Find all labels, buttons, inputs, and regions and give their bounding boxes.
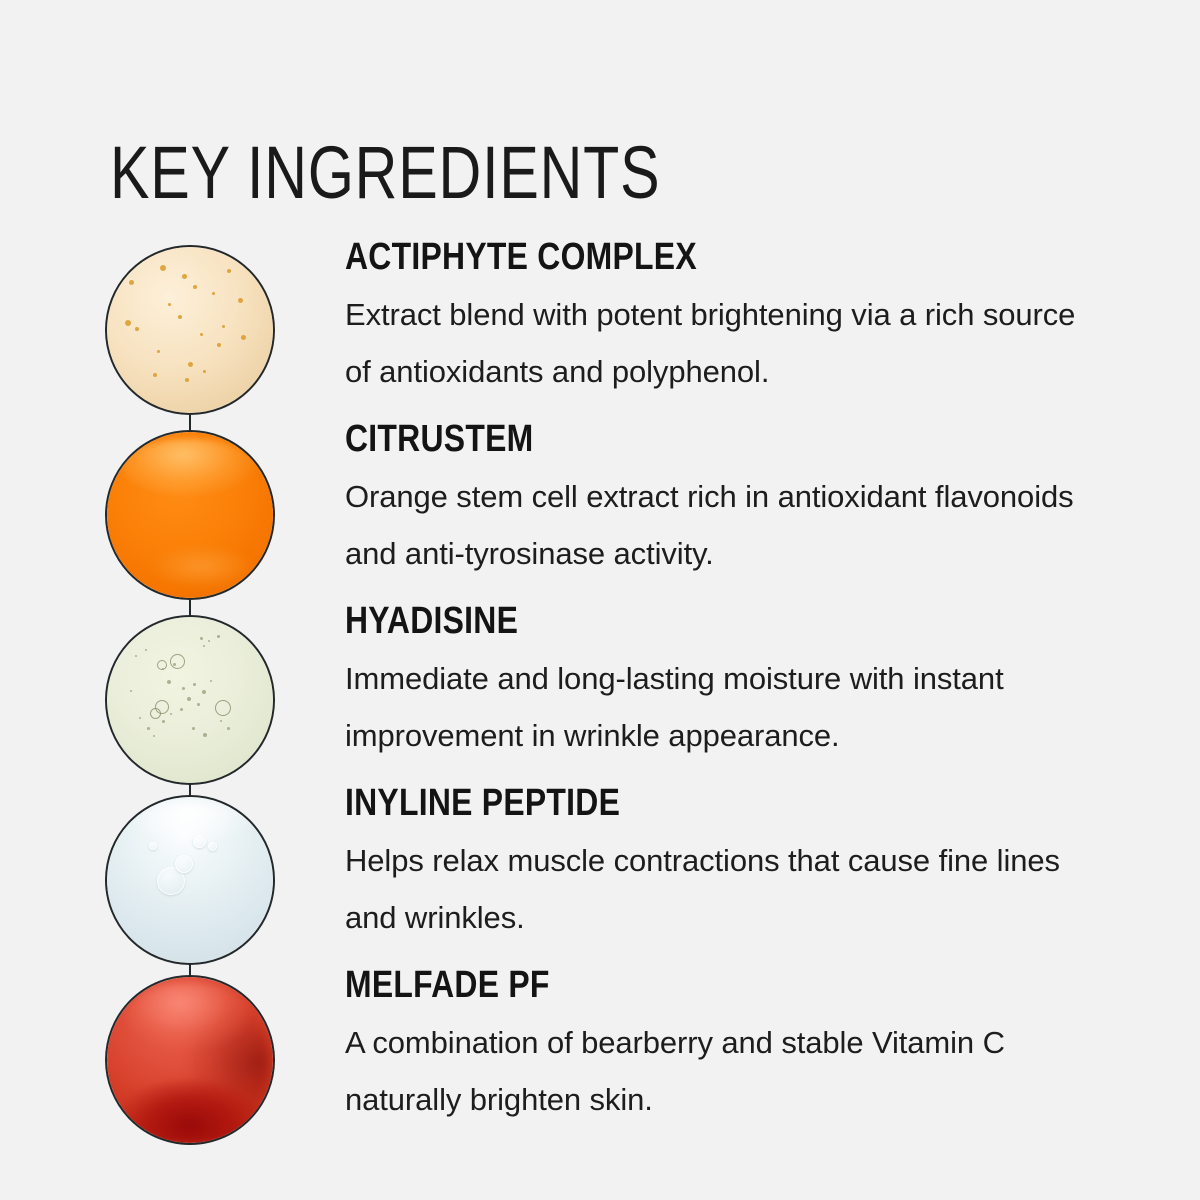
bubble xyxy=(149,842,157,850)
ingredient-description: A combination of bearberry and stable Vi… xyxy=(345,1014,1090,1128)
actiphyte-swatch xyxy=(105,245,275,415)
swatch-fill xyxy=(107,797,273,963)
microdot xyxy=(192,727,195,730)
ingredient-item: CITRUSTEM Orange stem cell extract rich … xyxy=(345,418,1105,582)
ingredient-name: CITRUSTEM xyxy=(345,418,983,460)
bubble xyxy=(208,842,217,851)
ingredient-item: INYLINE PEPTIDE Helps relax muscle contr… xyxy=(345,782,1105,946)
ingredient-item: ACTIPHYTE COMPLEX Extract blend with pot… xyxy=(345,236,1105,400)
ingredient-name: INYLINE PEPTIDE xyxy=(345,782,983,824)
speckle xyxy=(135,327,139,331)
bubble xyxy=(170,654,185,669)
ingredient-name: ACTIPHYTE COMPLEX xyxy=(345,236,983,278)
microdot xyxy=(187,697,191,701)
microdot xyxy=(162,720,165,723)
swatch-fill xyxy=(107,977,273,1143)
microdot xyxy=(202,690,206,694)
microdot xyxy=(139,717,141,719)
microdot xyxy=(147,727,150,730)
speckle xyxy=(212,292,215,295)
inyline-swatch xyxy=(105,795,275,965)
ingredient-description: Immediate and long-lasting moisture with… xyxy=(345,650,1090,764)
hyadisine-swatch xyxy=(105,615,275,785)
microdot xyxy=(227,727,230,730)
swatch-chain xyxy=(105,245,275,1120)
key-ingredients-page: KEY INGREDIENTS xyxy=(0,0,1200,1200)
bubble xyxy=(215,700,231,716)
microdot xyxy=(145,649,147,651)
melfade-swatch xyxy=(105,975,275,1145)
microdot xyxy=(220,720,222,722)
ingredient-item: HYADISINE Immediate and long-lasting moi… xyxy=(345,600,1105,764)
ingredient-name: MELFADE PF xyxy=(345,964,983,1006)
microdot xyxy=(217,635,220,638)
citrustem-swatch xyxy=(105,430,275,600)
swatch-fill xyxy=(107,432,273,598)
microdot xyxy=(200,637,203,640)
microdot xyxy=(167,680,171,684)
speckle xyxy=(217,343,221,347)
microdot xyxy=(182,687,185,690)
speckle xyxy=(227,269,231,273)
swatch-fill xyxy=(107,247,273,413)
ingredient-name: HYADISINE xyxy=(345,600,983,642)
ingredient-item: MELFADE PF A combination of bearberry an… xyxy=(345,964,1105,1128)
speckle xyxy=(129,280,134,285)
ingredient-description: Extract blend with potent brightening vi… xyxy=(345,286,1090,400)
speckle xyxy=(222,325,225,328)
page-title: KEY INGREDIENTS xyxy=(110,134,660,212)
speckle xyxy=(182,274,187,279)
microdot xyxy=(210,680,212,682)
speckle xyxy=(157,350,160,353)
ingredient-description: Helps relax muscle contractions that cau… xyxy=(345,832,1090,946)
ingredient-description: Orange stem cell extract rich in antioxi… xyxy=(345,468,1090,582)
speckle xyxy=(188,362,193,367)
